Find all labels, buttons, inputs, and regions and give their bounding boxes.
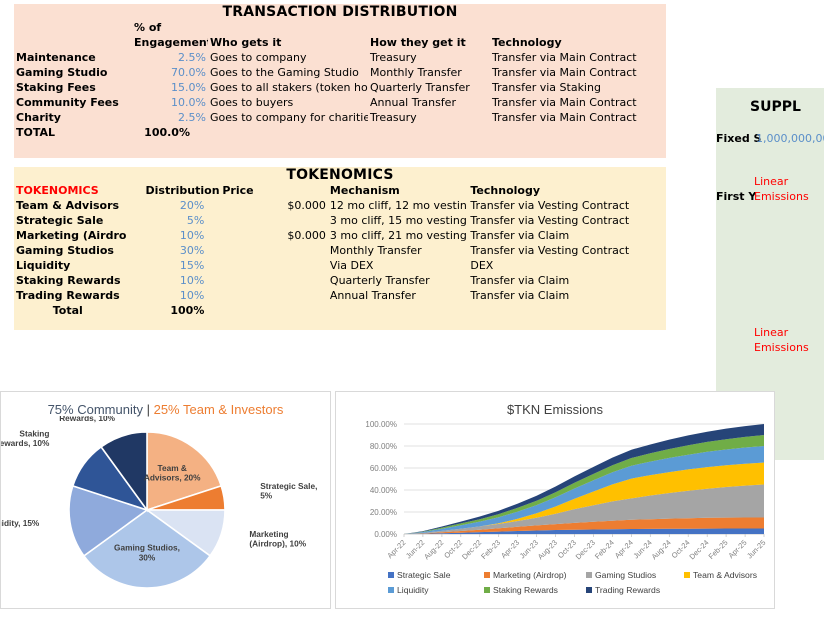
- transaction-total-row: TOTAL 100.0%: [14, 125, 666, 140]
- row-how: Treasury: [368, 110, 490, 125]
- row-tech: Transfer via Vesting Contract: [468, 213, 666, 228]
- x-tick-label: Apr-23: [499, 538, 521, 560]
- x-tick-label: Feb-23: [479, 538, 502, 561]
- row-tech: Transfer via Claim: [468, 288, 666, 303]
- total-label: Total: [14, 303, 144, 318]
- x-tick-label: Apr-25: [726, 538, 748, 560]
- row-how: Quarterly Transfer: [368, 80, 490, 95]
- row-price: [220, 273, 328, 288]
- legend-label: Team & Advisors: [693, 570, 757, 580]
- x-tick-label: Dec-22: [460, 538, 483, 561]
- legend-swatch: [586, 572, 592, 578]
- row-mech: 3 mo cliff, 21 mo vesting: [328, 228, 468, 243]
- table-row: Maintenance 2.5% Goes to company Treasur…: [14, 50, 666, 65]
- row-label: Trading Rewards: [14, 288, 144, 303]
- legend-label: Liquidity: [397, 585, 429, 595]
- row-tech: Transfer via Claim: [468, 273, 666, 288]
- legend-label: Strategic Sale: [397, 570, 451, 580]
- spacer-cell: [220, 303, 328, 318]
- row-pct: 10.0%: [132, 95, 208, 110]
- pie-slices: [69, 432, 225, 588]
- legend-swatch: [388, 572, 394, 578]
- row-pct: 2.5%: [132, 110, 208, 125]
- table-row: Gaming Studios 30% Monthly Transfer Tran…: [14, 243, 666, 258]
- pie-slice-label: Strategic Sale,5%: [260, 481, 317, 501]
- emissions-area-series: [404, 424, 764, 534]
- y-tick-label: 20.00%: [370, 508, 397, 517]
- y-tick-label: 100.00%: [365, 420, 397, 429]
- transaction-header-row-2: Engagement Who gets it How they get it T…: [14, 35, 666, 50]
- spacer-cell: [208, 20, 368, 35]
- spacer-cell: [490, 125, 666, 140]
- tokenomics-header-row: TOKENOMICS Distribution Price Mechanism …: [14, 183, 666, 198]
- pie-slice-label: TradingRewards, 10%: [59, 416, 115, 423]
- row-tech: Transfer via Vesting Contract: [468, 243, 666, 258]
- row-price: $0.000: [220, 198, 328, 213]
- pie-title-team: 25% Team & Investors: [154, 402, 284, 417]
- row-who: Goes to buyers: [208, 95, 368, 110]
- row-label: Maintenance: [14, 50, 132, 65]
- row-price: $0.000: [220, 228, 328, 243]
- row-dist: 15%: [144, 258, 221, 273]
- row-mech: 3 mo cliff, 15 mo vesting: [328, 213, 468, 228]
- transaction-table: % of Engagement Who gets it How they get…: [14, 20, 666, 140]
- spacer-cell: [468, 303, 666, 318]
- distribution-header: Distribution: [144, 183, 221, 198]
- tokenomics-total-row: Total 100%: [14, 303, 666, 318]
- row-dist: 10%: [144, 228, 221, 243]
- row-price: [220, 258, 328, 273]
- row-who: Goes to all stakers (token holde: [208, 80, 368, 95]
- row-label: Staking Fees: [14, 80, 132, 95]
- legend-swatch: [388, 587, 394, 593]
- row-price: [220, 213, 328, 228]
- emissions-svg: 0.00%20.00%40.00%60.00%80.00%100.00% Apr…: [336, 418, 776, 608]
- row-dist: 5%: [144, 213, 221, 228]
- spacer-cell: [14, 35, 132, 50]
- row-dist: 10%: [144, 288, 221, 303]
- x-tick-label: Dec-23: [574, 538, 597, 561]
- emissions-x-axis-labels: Apr-22Jun-22Aug-22Oct-22Dec-22Feb-23Apr-…: [385, 534, 767, 561]
- row-label: Team & Advisors: [14, 198, 144, 213]
- fixed-supply-value: 1,000,000,00: [756, 132, 824, 145]
- emissions-chart-title: $TKN Emissions: [336, 402, 774, 417]
- total-pct: 100.0%: [132, 125, 208, 140]
- price-header: Price: [220, 183, 328, 198]
- spacer-cell: [368, 20, 490, 35]
- emissions-legend: Strategic SaleMarketing (Airdrop)Gaming …: [388, 570, 757, 595]
- emissions-y-axis-labels: 0.00%20.00%40.00%60.00%80.00%100.00%: [365, 420, 397, 539]
- tokenomics-col-header: TOKENOMICS: [14, 183, 144, 198]
- y-tick-label: 60.00%: [370, 464, 397, 473]
- spacer-cell: [490, 20, 666, 35]
- row-price: [220, 288, 328, 303]
- legend-swatch: [684, 572, 690, 578]
- pie-title-community: 75% Community: [48, 402, 143, 417]
- pie-slice-label: StakingRewards, 10%: [1, 428, 50, 448]
- x-tick-label: Aug-22: [422, 538, 445, 561]
- legend-swatch: [586, 587, 592, 593]
- pie-title-separator: |: [147, 402, 150, 417]
- row-price: [220, 243, 328, 258]
- tkn-emissions-area-chart: $TKN Emissions 0.00%20.00%40.00%60.00%80…: [335, 391, 775, 609]
- row-who: Goes to the Gaming Studio: [208, 65, 368, 80]
- pie-slice-label: Liquidity, 15%: [1, 518, 40, 528]
- legend-swatch: [484, 587, 490, 593]
- x-tick-label: Aug-23: [536, 538, 559, 561]
- legend-label: Marketing (Airdrop): [493, 570, 567, 580]
- legend-label: Staking Rewards: [493, 585, 558, 595]
- y-tick-label: 0.00%: [374, 530, 397, 539]
- row-label: Marketing (Airdro: [14, 228, 144, 243]
- table-row: Team & Advisors 20% $0.000 12 mo cliff, …: [14, 198, 666, 213]
- row-mech: Annual Transfer: [328, 288, 468, 303]
- table-row: Strategic Sale 5% 3 mo cliff, 15 mo vest…: [14, 213, 666, 228]
- tokenomics-table-title: TOKENOMICS: [14, 167, 666, 183]
- row-how: Monthly Transfer: [368, 65, 490, 80]
- x-tick-label: Apr-24: [613, 538, 635, 560]
- pct-header-line1: % of: [132, 20, 208, 35]
- row-tech: Transfer via Main Contract: [490, 95, 666, 110]
- table-row: Marketing (Airdro 10% $0.000 3 mo cliff,…: [14, 228, 666, 243]
- row-dist: 10%: [144, 273, 221, 288]
- fixed-supply-label: Fixed S: [716, 132, 761, 145]
- x-tick-label: Feb-24: [593, 538, 616, 561]
- row-dist: 20%: [144, 198, 221, 213]
- row-tech: Transfer via Main Contract: [490, 65, 666, 80]
- emission-note-1-line2: Emissions: [754, 190, 809, 203]
- row-pct: 70.0%: [132, 65, 208, 80]
- row-who: Goes to company: [208, 50, 368, 65]
- table-row: Liquidity 15% Via DEX DEX: [14, 258, 666, 273]
- row-tech: Transfer via Staking: [490, 80, 666, 95]
- spacer-cell: [368, 125, 490, 140]
- row-label: Liquidity: [14, 258, 144, 273]
- pie-chart-title: 75% Community | 25% Team & Investors: [1, 402, 330, 417]
- transaction-header-row-1: % of: [14, 20, 666, 35]
- row-label: Community Fees: [14, 95, 132, 110]
- emission-note-2-line2: Emissions: [754, 341, 809, 354]
- tokenomics-table: TOKENOMICS TOKENOMICS Distribution Price…: [14, 167, 666, 330]
- x-tick-label: Feb-25: [707, 538, 730, 561]
- legend-label: Trading Rewards: [595, 585, 660, 595]
- row-label: Charity: [14, 110, 132, 125]
- spacer-cell: [328, 303, 468, 318]
- supply-panel-title: SUPPL: [750, 99, 801, 115]
- row-mech: Via DEX: [328, 258, 468, 273]
- row-pct: 15.0%: [132, 80, 208, 95]
- emission-note-1-line1: Linear: [754, 175, 788, 188]
- who-header: Who gets it: [208, 35, 368, 50]
- x-tick-label: Jun-25: [745, 538, 767, 560]
- y-tick-label: 40.00%: [370, 486, 397, 495]
- transaction-table-title: TRANSACTION DISTRIBUTION: [14, 4, 666, 20]
- row-dist: 30%: [144, 243, 221, 258]
- row-label: Gaming Studio: [14, 65, 132, 80]
- table-row: Gaming Studio 70.0% Goes to the Gaming S…: [14, 65, 666, 80]
- row-how: Treasury: [368, 50, 490, 65]
- row-label: Gaming Studios: [14, 243, 144, 258]
- pie-svg: Team &Advisors, 20%Strategic Sale,5%Mark…: [1, 416, 332, 608]
- pie-slice-label: Marketing(Airdrop), 10%: [249, 529, 306, 549]
- row-who: Goes to company for charities: [208, 110, 368, 125]
- x-tick-label: Dec-24: [687, 538, 710, 561]
- tech-header: Technology: [490, 35, 666, 50]
- legend-label: Gaming Studios: [595, 570, 656, 580]
- legend-swatch: [484, 572, 490, 578]
- row-label: Strategic Sale: [14, 213, 144, 228]
- emission-note-2-line1: Linear: [754, 326, 788, 339]
- tokenomics-table-grid: TOKENOMICS Distribution Price Mechanism …: [14, 183, 666, 318]
- technology-header: Technology: [468, 183, 666, 198]
- table-row: Staking Fees 15.0% Goes to all stakers (…: [14, 80, 666, 95]
- row-tech: Transfer via Vesting Contract: [468, 198, 666, 213]
- y-tick-label: 80.00%: [370, 442, 397, 451]
- x-tick-label: Apr-22: [385, 538, 407, 560]
- x-tick-label: Aug-24: [649, 538, 672, 561]
- row-how: Annual Transfer: [368, 95, 490, 110]
- first-year-label: First Y: [716, 190, 756, 203]
- row-tech: Transfer via Claim: [468, 228, 666, 243]
- row-mech: Monthly Transfer: [328, 243, 468, 258]
- table-row: Trading Rewards 10% Annual Transfer Tran…: [14, 288, 666, 303]
- row-mech: Quarterly Transfer: [328, 273, 468, 288]
- pct-header-line2: Engagement: [132, 35, 208, 50]
- total-dist: 100%: [144, 303, 221, 318]
- spacer-cell: [208, 125, 368, 140]
- total-label: TOTAL: [14, 125, 132, 140]
- row-pct: 2.5%: [132, 50, 208, 65]
- row-label: Staking Rewards: [14, 273, 144, 288]
- table-row: Charity 2.5% Goes to company for chariti…: [14, 110, 666, 125]
- token-distribution-pie-chart: 75% Community | 25% Team & Investors Tea…: [0, 391, 331, 609]
- row-mech: 12 mo cliff, 12 mo vestin: [328, 198, 468, 213]
- mechanism-header: Mechanism: [328, 183, 468, 198]
- table-row: Community Fees 10.0% Goes to buyers Annu…: [14, 95, 666, 110]
- how-header: How they get it: [368, 35, 490, 50]
- spacer-cell: [14, 20, 132, 35]
- transaction-distribution-table: TRANSACTION DISTRIBUTION % of Engagement…: [14, 4, 666, 158]
- row-tech: Transfer via Main Contract: [490, 110, 666, 125]
- row-tech: DEX: [468, 258, 666, 273]
- table-row: Staking Rewards 10% Quarterly Transfer T…: [14, 273, 666, 288]
- row-tech: Transfer via Main Contract: [490, 50, 666, 65]
